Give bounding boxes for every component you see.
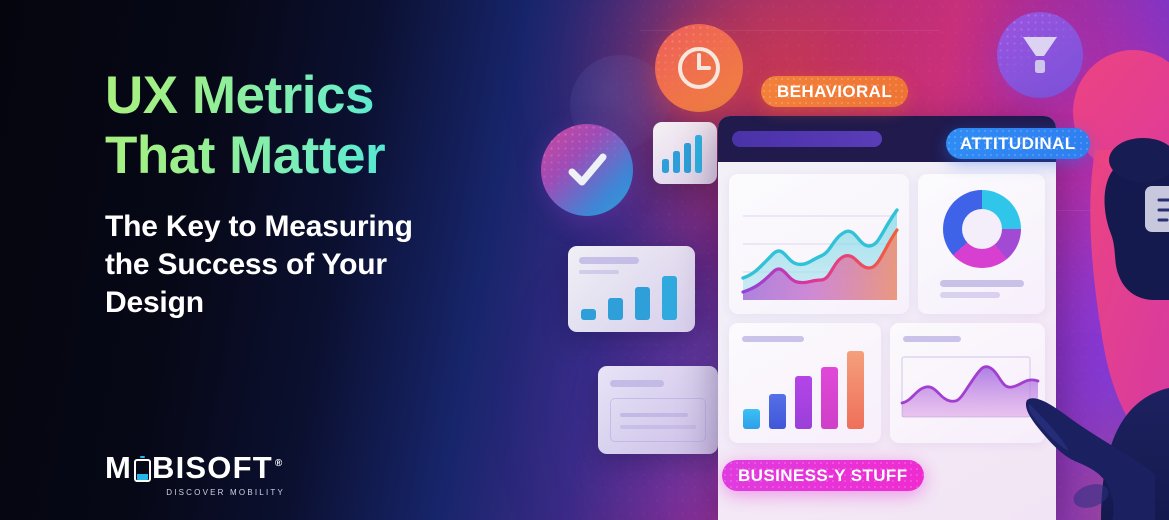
badge-behavioral[interactable]: BEHAVIORAL (761, 76, 908, 107)
bar (673, 151, 680, 173)
clock-icon-glyph (674, 43, 724, 93)
bar (635, 287, 650, 320)
bar (769, 394, 786, 429)
badge-business-y-stuff[interactable]: BUSINESS-Y STUFF (722, 460, 924, 491)
placeholder-line (620, 425, 696, 429)
logo-text-after: BISOFT (152, 452, 273, 483)
bar (662, 159, 669, 173)
badge-label: ATTITUDINAL (960, 134, 1076, 154)
floating-card-bar-chart-small (653, 122, 717, 184)
bar (847, 351, 864, 429)
placeholder-line (940, 292, 1000, 298)
badge-label: BEHAVIORAL (777, 82, 892, 102)
badge-attitudinal[interactable]: ATTITUDINAL (946, 128, 1090, 159)
hero-text-block: UX Metrics That Matter The Key to Measur… (105, 66, 505, 322)
bar (581, 309, 596, 320)
placeholder-line (620, 413, 688, 417)
clock-icon (655, 24, 743, 112)
bar (821, 367, 838, 429)
pointing-hand-illustration (1005, 378, 1155, 520)
mobile-phone-icon (134, 459, 151, 482)
brand-logo[interactable]: M BISOFT ® DISCOVER MOBILITY (105, 452, 285, 497)
area-chart-svg (729, 174, 909, 314)
page-subtitle: The Key to Measuring the Success of Your… (105, 208, 505, 322)
placeholder-line (579, 257, 639, 264)
check-icon (541, 124, 633, 216)
placeholder-line (742, 336, 804, 342)
banner-root: UX Metrics That Matter The Key to Measur… (0, 0, 1169, 520)
placeholder-line (579, 270, 619, 274)
bar (695, 135, 702, 173)
bar-chart-panel[interactable] (729, 323, 881, 443)
registered-trademark-icon: ® (275, 459, 284, 469)
logo-tagline: DISCOVER MOBILITY (105, 488, 285, 497)
area-chart-panel[interactable] (729, 174, 909, 314)
check-icon-glyph (561, 144, 613, 196)
placeholder-box (610, 398, 706, 442)
bar (795, 376, 812, 429)
badge-label: BUSINESS-Y STUFF (738, 466, 908, 486)
placeholder-line (610, 380, 664, 387)
bar (662, 276, 677, 320)
bar (743, 409, 760, 429)
floating-card-text (598, 366, 718, 454)
page-title: UX Metrics That Matter (105, 66, 505, 186)
bar (684, 143, 691, 173)
logo-text-before: M (105, 452, 132, 483)
bar (608, 298, 623, 320)
dashboard-title-placeholder (732, 131, 882, 147)
floating-card-bar-chart-large (568, 246, 695, 332)
logo-wordmark: M BISOFT ® (105, 452, 285, 483)
